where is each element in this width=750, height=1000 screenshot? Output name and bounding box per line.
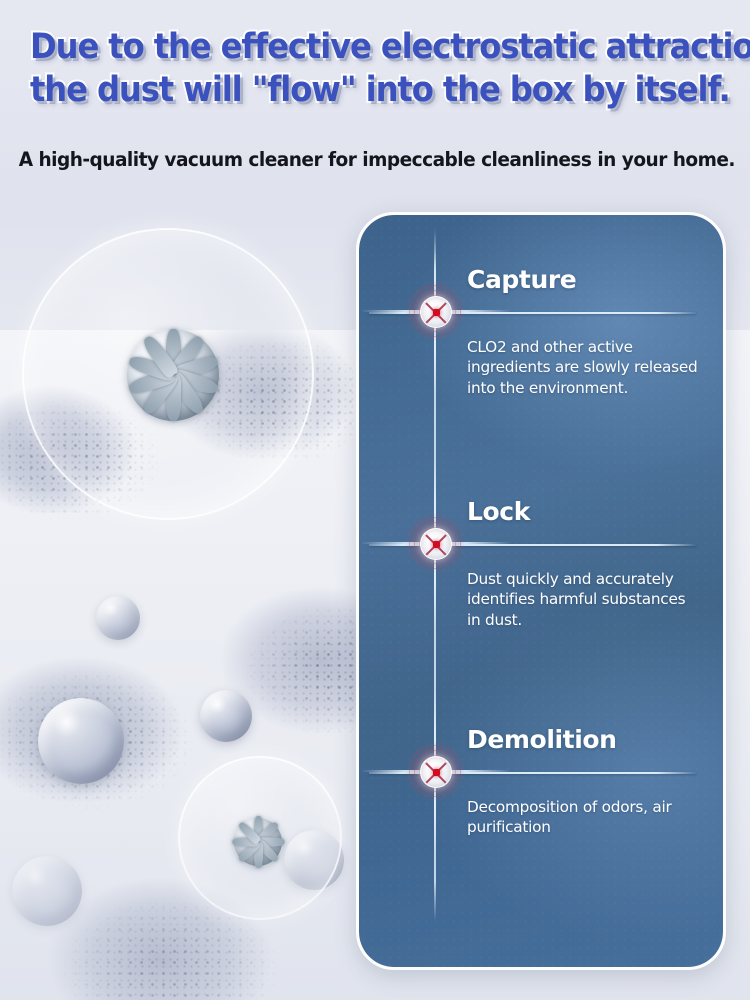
target-center-dot (433, 309, 440, 316)
target-crosshair-icon (413, 289, 457, 333)
water-droplet-icon (12, 856, 82, 926)
target-center-dot (433, 541, 440, 548)
headline: Due to the effective electrostatic attra… (30, 26, 720, 111)
water-droplet-icon (200, 690, 252, 742)
target-disc (420, 296, 452, 328)
feature-body: Decomposition of odors, air purification (467, 797, 699, 838)
feature-title: Capture (467, 265, 576, 294)
headline-line-2: the dust will "flow" into the box by its… (30, 69, 720, 112)
target-center-dot (433, 769, 440, 776)
virus-particle-icon (206, 790, 310, 894)
water-droplet-icon (38, 698, 124, 784)
feature-title: Demolition (467, 725, 617, 754)
target-crosshair-icon (413, 521, 457, 565)
virus-particle-icon (78, 280, 268, 470)
subheadline: A high-quality vacuum cleaner for impecc… (19, 148, 732, 171)
feature-card: Capture CLO2 and other active ingredient… (356, 212, 726, 970)
feature-body: Dust quickly and accurately identifies h… (467, 569, 699, 630)
target-disc (420, 756, 452, 788)
promo-poster: Due to the effective electrostatic attra… (0, 0, 750, 1000)
feature-body: CLO2 and other active ingredients are sl… (467, 337, 699, 398)
feature-title: Lock (467, 497, 530, 526)
feature-card-background: Capture CLO2 and other active ingredient… (359, 215, 723, 967)
target-disc (420, 528, 452, 560)
water-droplet-icon (96, 596, 140, 640)
target-crosshair-icon (413, 749, 457, 793)
headline-line-1: Due to the effective electrostatic attra… (30, 26, 720, 69)
